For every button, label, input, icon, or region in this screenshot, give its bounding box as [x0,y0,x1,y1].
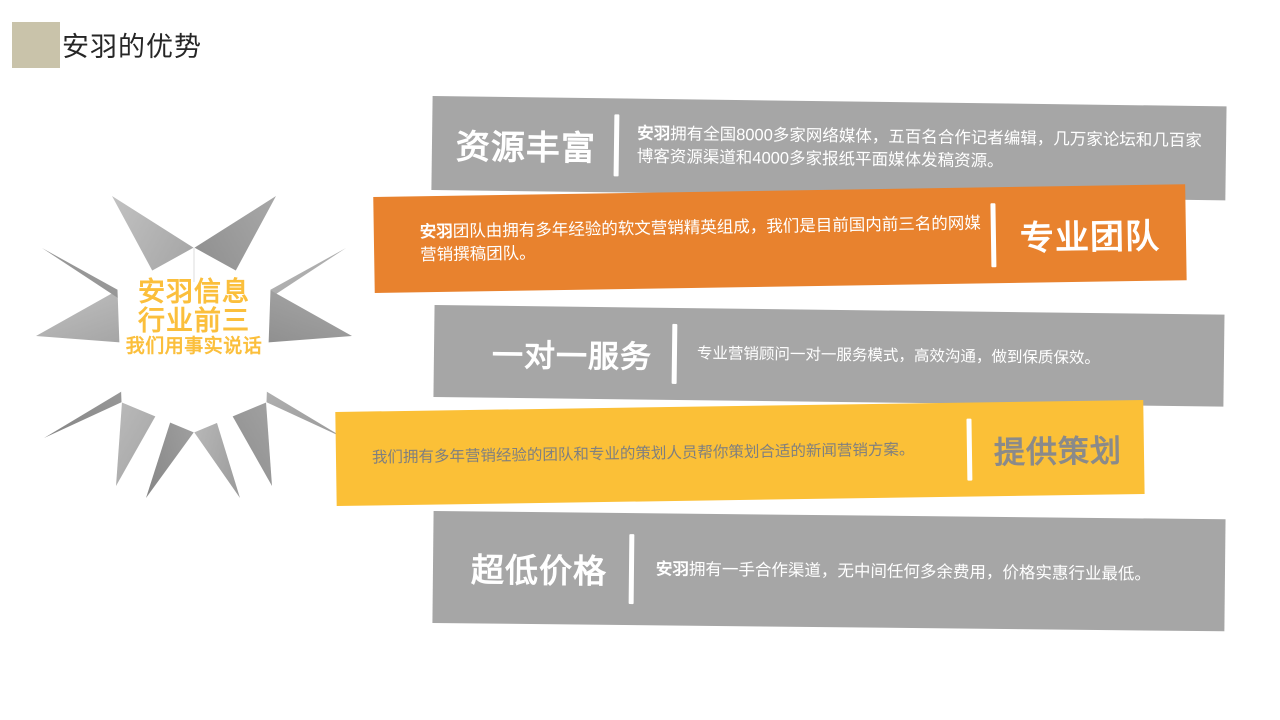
star-line-2: 行业前三 [34,307,354,336]
feature-description-lead: 安羽 [420,223,453,242]
feature-description-lead: 安羽 [637,125,670,143]
feature-title: 提供策划 [994,425,1145,472]
feature-description: 安羽团队由拥有多年经验的软文营销精英组成，我们是目前国内前三名的网媒营销撰稿团队… [374,213,982,268]
star-line-1: 安羽信息 [34,278,354,307]
feature-bar-price[interactable]: 超低价格 安羽拥有一手合作渠道，无中间任何多余费用，价格实惠行业最低。 [432,511,1225,631]
feature-bar-service[interactable]: 一对一服务 专业营销顾问一对一服务模式，高效沟通，做到保质保效。 [433,305,1224,407]
title-accent-chip [12,22,60,68]
star-badge-text: 安羽信息 行业前三 我们用事实说话 [34,278,354,357]
feature-description-rest: 我们拥有多年营销经验的团队和专业的策划人员帮你策划合适的新闻营销方案。 [372,442,915,467]
feature-title: 一对一服务 [434,329,653,377]
feature-description: 专业营销顾问一对一服务模式，高效沟通，做到保质保效。 [697,344,1224,372]
feature-description-rest: 拥有全国8000多家网络媒体，五百名合作记者编辑，几万家论坛和几百家博客资源渠道… [637,125,1202,170]
feature-description: 我们拥有多年营销经验的团队和专业的策划人员帮你策划合适的新闻营销方案。 [336,439,957,470]
page-title: 安羽的优势 [62,30,202,64]
slide-canvas: 安羽的优势 [0,0,1280,720]
feature-divider [614,114,620,176]
feature-divider [990,203,996,267]
star-badge: 安羽信息 行业前三 我们用事实说话 [34,186,354,498]
feature-title: 专业团队 [1020,208,1187,260]
feature-description: 安羽拥有全国8000多家网络媒体，五百名合作记者编辑，几万家论坛和几百家博客资源… [637,123,1227,176]
star-line-3: 我们用事实说话 [34,337,354,357]
feature-description-rest: 专业营销顾问一对一服务模式，高效沟通，做到保质保效。 [697,346,1100,368]
feature-description-lead: 安羽 [656,560,689,578]
feature-description-rest: 拥有一手合作渠道，无中间任何多余费用，价格实惠行业最低。 [689,560,1151,583]
feature-divider [629,534,635,604]
feature-title: 超低价格 [433,543,607,593]
feature-description: 安羽拥有一手合作渠道，无中间任何多余费用，价格实惠行业最低。 [656,558,1225,587]
feature-bar-team[interactable]: 安羽团队由拥有多年经验的软文营销精英组成，我们是目前国内前三名的网媒营销撰稿团队… [373,184,1186,293]
slide-header: 安羽的优势 [0,0,1280,92]
feature-bar-planning[interactable]: 我们拥有多年营销经验的团队和专业的策划人员帮你策划合适的新闻营销方案。 提供策划 [335,400,1144,506]
feature-title: 资源丰富 [432,119,597,170]
feature-divider [672,324,678,384]
feature-description-rest: 团队由拥有多年经验的软文营销精英组成，我们是目前国内前三名的网媒营销撰稿团队。 [420,215,981,265]
feature-divider [966,419,972,481]
